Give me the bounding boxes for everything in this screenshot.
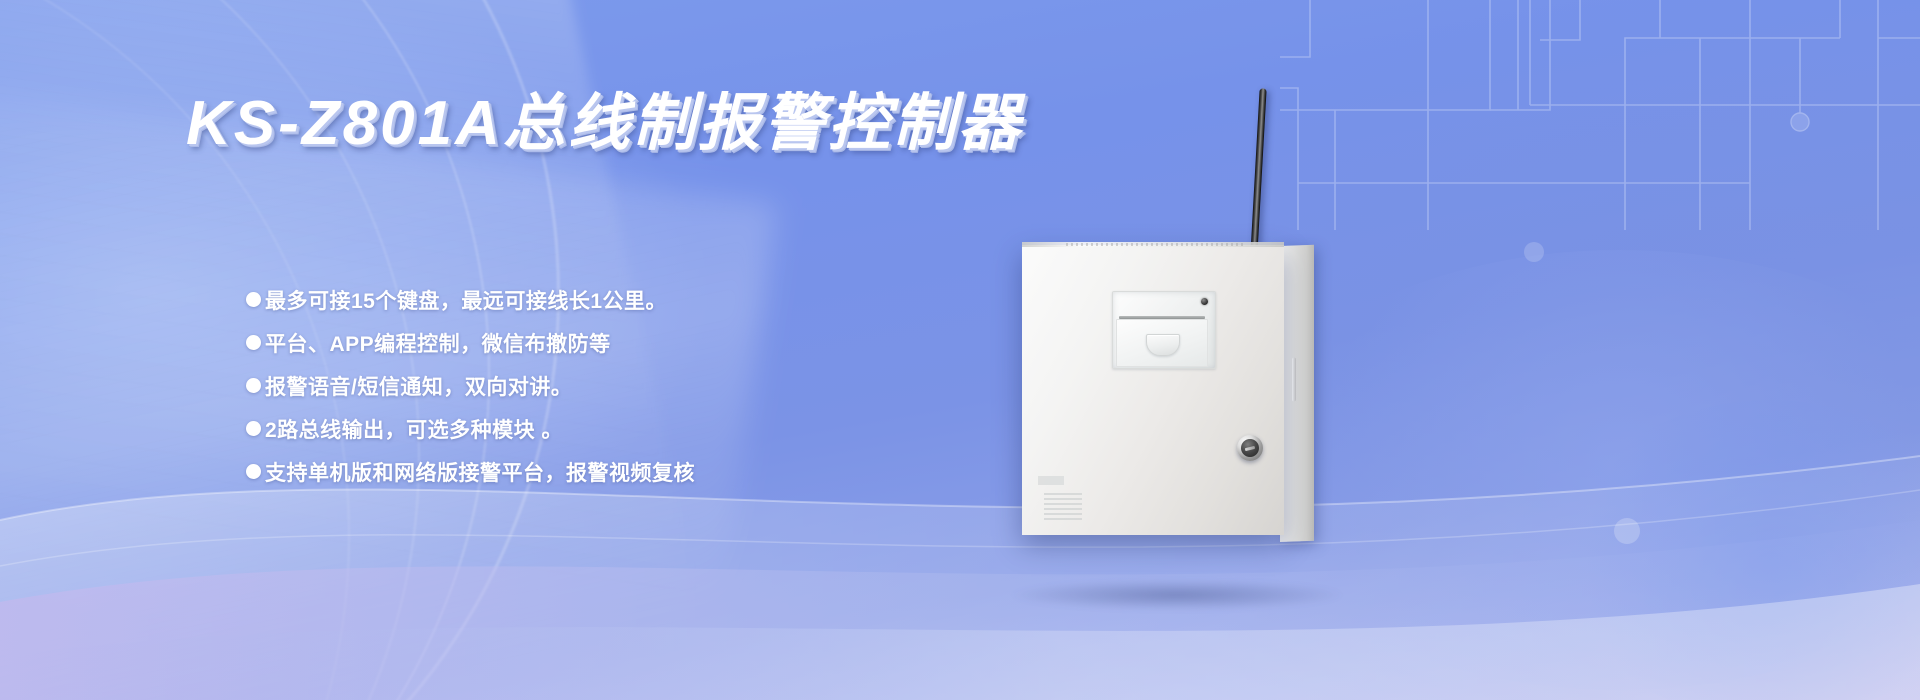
feature-text: 支持单机版和网络版接警平台，报警视频复核 bbox=[265, 457, 695, 487]
list-item: 报警语音/短信通知，双向对讲。 bbox=[246, 364, 1066, 407]
bay-panel bbox=[1116, 319, 1208, 367]
product-banner: KS-Z801A总线制报警控制器 最多可接15个键盘，最远可接线长1公里。 平台… bbox=[0, 0, 1920, 700]
page-title: KS-Z801A总线制报警控制器 bbox=[186, 72, 1023, 162]
enclosure-front-door bbox=[1022, 245, 1284, 535]
product-image bbox=[1000, 80, 1520, 600]
enclosure-side-panel bbox=[1280, 245, 1314, 542]
alarm-control-panel-enclosure bbox=[1022, 245, 1314, 543]
ventilation-louvers bbox=[1044, 493, 1082, 521]
bullet-icon bbox=[246, 292, 261, 307]
bullet-icon bbox=[246, 378, 261, 393]
status-led-icon bbox=[1201, 298, 1208, 305]
bay-handle bbox=[1146, 334, 1180, 356]
feature-text: 平台、APP编程控制，微信布撤防等 bbox=[265, 328, 611, 358]
feature-text: 报警语音/短信通知，双向对讲。 bbox=[265, 371, 572, 401]
list-item: 最多可接15个键盘，最远可接线长1公里。 bbox=[246, 278, 1066, 321]
product-label bbox=[1038, 476, 1064, 485]
printer-bay bbox=[1112, 291, 1216, 369]
lock-core bbox=[1241, 439, 1259, 457]
bullet-icon bbox=[246, 421, 261, 436]
feature-text: 最多可接15个键盘，最远可接线长1公里。 bbox=[265, 285, 667, 315]
lock-keyhole bbox=[1245, 446, 1255, 451]
feature-text: 2路总线输出，可选多种模块 。 bbox=[265, 414, 563, 444]
list-item: 支持单机版和网络版接警平台，报警视频复核 bbox=[246, 450, 1066, 493]
list-item: 平台、APP编程控制，微信布撤防等 bbox=[246, 321, 1066, 364]
bullet-icon bbox=[246, 464, 261, 479]
hinge bbox=[1292, 357, 1296, 401]
list-item: 2路总线输出，可选多种模块 。 bbox=[246, 407, 1066, 450]
feature-list: 最多可接15个键盘，最远可接线长1公里。 平台、APP编程控制，微信布撤防等 报… bbox=[246, 278, 1066, 493]
bokeh-dot bbox=[1524, 242, 1544, 262]
key-lock-icon bbox=[1237, 435, 1263, 461]
circuit-node-dot bbox=[1791, 113, 1809, 131]
door-top-perforations bbox=[1066, 243, 1246, 246]
bullet-icon bbox=[246, 335, 261, 350]
